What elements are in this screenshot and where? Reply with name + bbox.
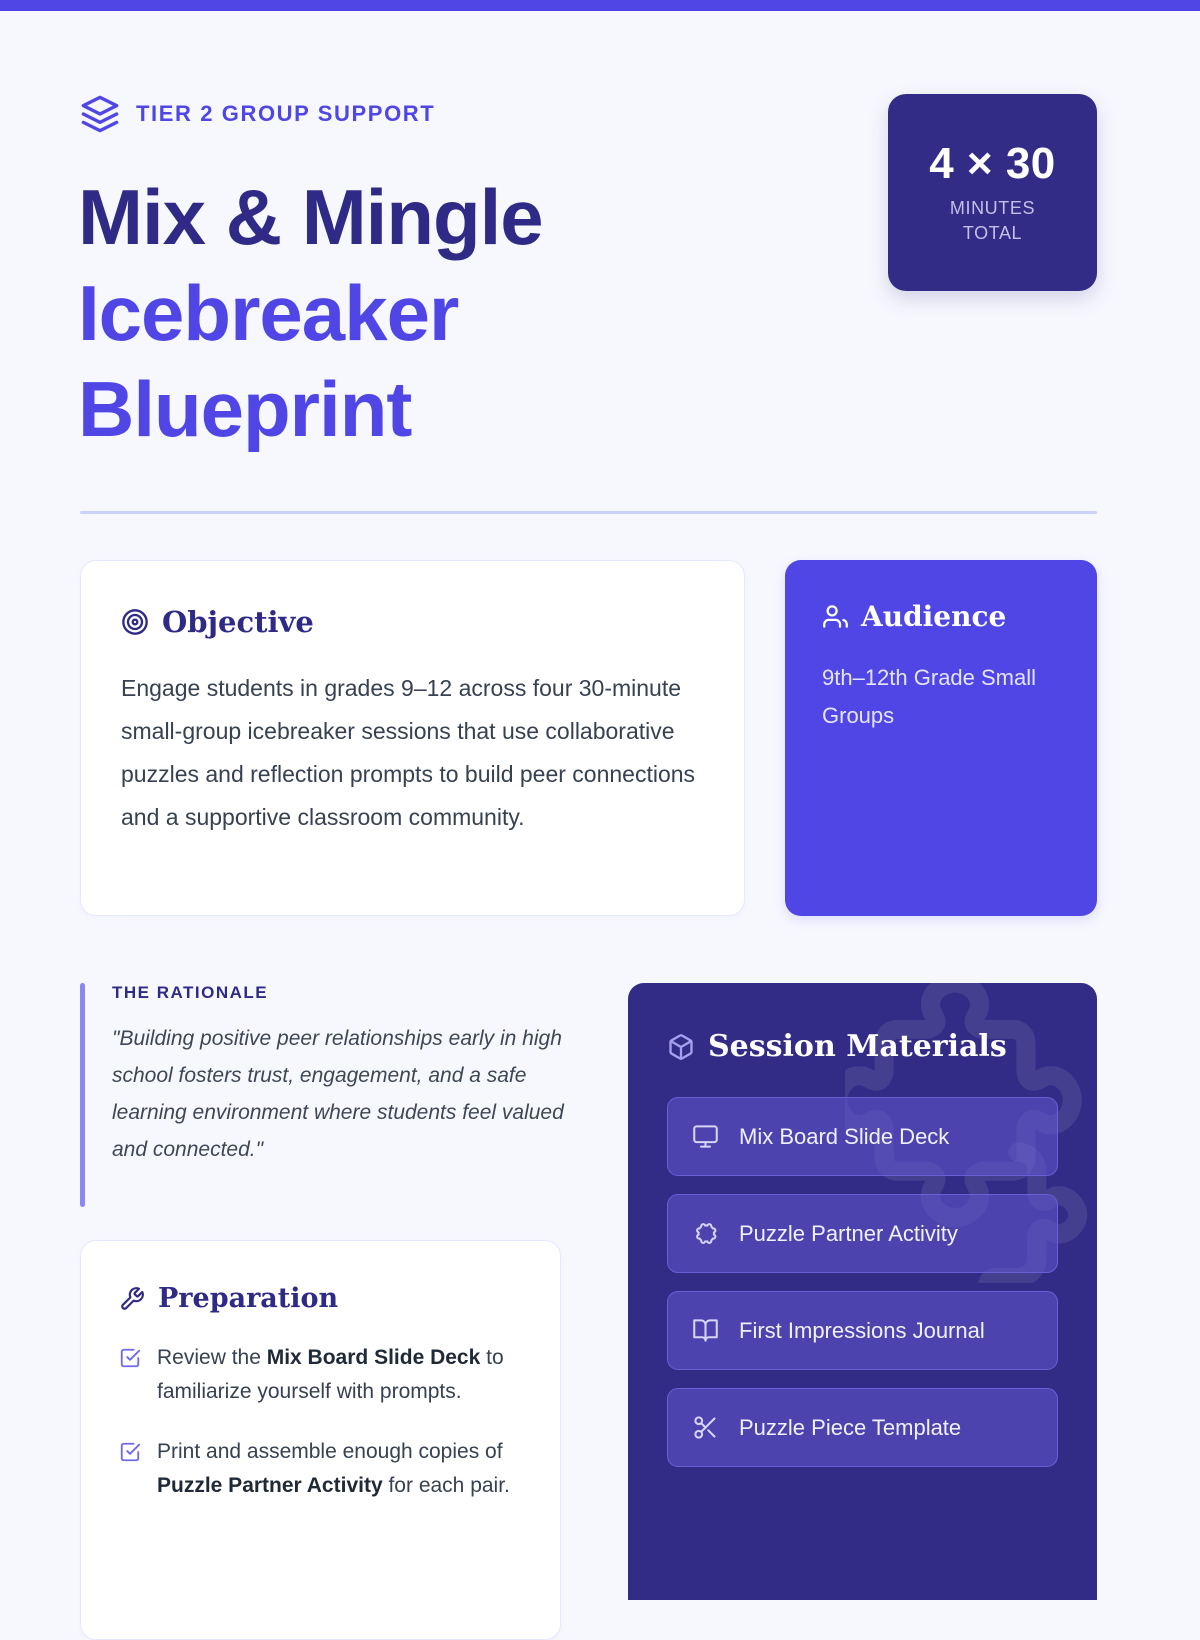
session-materials-panel: Session Materials Mix Board Slide Deck P… [628, 983, 1097, 1600]
page-title-line-3: Blueprint [78, 361, 778, 457]
objective-heading-label: Objective [162, 605, 314, 639]
monitor-icon [692, 1123, 719, 1150]
duration-unit-line-2: TOTAL [963, 223, 1022, 243]
rationale-label: THE RATIONALE [112, 983, 580, 1003]
material-item[interactable]: Puzzle Partner Activity [667, 1194, 1058, 1273]
preparation-item-prefix: Print and assemble enough copies of [157, 1440, 503, 1463]
preparation-item-bold: Puzzle Partner Activity [157, 1474, 383, 1497]
material-item-label: Mix Board Slide Deck [739, 1120, 949, 1153]
objective-heading: Objective [121, 605, 704, 639]
page-title-line-1: Mix & Mingle [78, 169, 778, 265]
header-divider [80, 511, 1097, 514]
duration-badge: 4 × 30 MINUTES TOTAL [888, 94, 1097, 291]
page-header: TIER 2 GROUP SUPPORT Mix & Mingle Icebre… [0, 11, 1200, 501]
preparation-heading: Preparation [119, 1283, 522, 1314]
eyebrow: TIER 2 GROUP SUPPORT [80, 94, 435, 134]
objective-card: Objective Engage students in grades 9–12… [80, 560, 745, 916]
rationale-accent-bar [80, 983, 85, 1207]
preparation-item-text: Print and assemble enough copies of Puzz… [157, 1435, 522, 1503]
duration-unit: MINUTES TOTAL [950, 196, 1035, 246]
rationale-block: THE RATIONALE "Building positive peer re… [80, 983, 580, 1168]
top-accent-bar [0, 0, 1200, 11]
preparation-item: Print and assemble enough copies of Puzz… [119, 1435, 522, 1503]
scissors-icon [692, 1414, 719, 1441]
users-icon [822, 603, 849, 630]
preparation-item-bold: Mix Board Slide Deck [267, 1346, 481, 1369]
session-materials-heading-label: Session Materials [708, 1029, 1007, 1064]
material-item-label: Puzzle Partner Activity [739, 1217, 958, 1250]
audience-heading-label: Audience [861, 600, 1006, 633]
material-item[interactable]: Puzzle Piece Template [667, 1388, 1058, 1467]
checkbox-checked-icon[interactable] [119, 1441, 141, 1463]
material-item[interactable]: Mix Board Slide Deck [667, 1097, 1058, 1176]
package-icon [667, 1033, 695, 1061]
objective-body: Engage students in grades 9–12 across fo… [121, 667, 704, 839]
preparation-card: Preparation Review the Mix Board Slide D… [80, 1240, 561, 1640]
material-item-label: Puzzle Piece Template [739, 1411, 961, 1444]
material-item-label: First Impressions Journal [739, 1314, 985, 1347]
layers-icon [80, 94, 120, 134]
preparation-item-suffix: for each pair. [383, 1474, 510, 1497]
wrench-icon [119, 1286, 145, 1312]
checkbox-checked-icon[interactable] [119, 1347, 141, 1369]
preparation-item-prefix: Review the [157, 1346, 267, 1369]
page-title: Mix & Mingle Icebreaker Blueprint [78, 169, 778, 457]
puzzle-icon [692, 1220, 719, 1247]
preparation-heading-label: Preparation [158, 1283, 338, 1314]
book-open-icon [692, 1317, 719, 1344]
rationale-quote: "Building positive peer relationships ea… [112, 1020, 580, 1168]
eyebrow-label: TIER 2 GROUP SUPPORT [136, 101, 435, 127]
session-materials-list: Mix Board Slide Deck Puzzle Partner Acti… [667, 1097, 1058, 1467]
preparation-item: Review the Mix Board Slide Deck to famil… [119, 1341, 522, 1409]
preparation-item-text: Review the Mix Board Slide Deck to famil… [157, 1341, 522, 1409]
material-item[interactable]: First Impressions Journal [667, 1291, 1058, 1370]
page-title-line-2: Icebreaker [78, 265, 778, 361]
duration-unit-line-1: MINUTES [950, 198, 1035, 218]
page-root: TIER 2 GROUP SUPPORT Mix & Mingle Icebre… [0, 11, 1200, 1600]
target-icon [121, 608, 149, 636]
session-materials-heading: Session Materials [667, 1029, 1058, 1064]
audience-heading: Audience [822, 600, 1060, 633]
audience-card: Audience 9th–12th Grade Small Groups [785, 560, 1097, 916]
audience-body: 9th–12th Grade Small Groups [822, 659, 1060, 735]
duration-value: 4 × 30 [929, 139, 1056, 189]
